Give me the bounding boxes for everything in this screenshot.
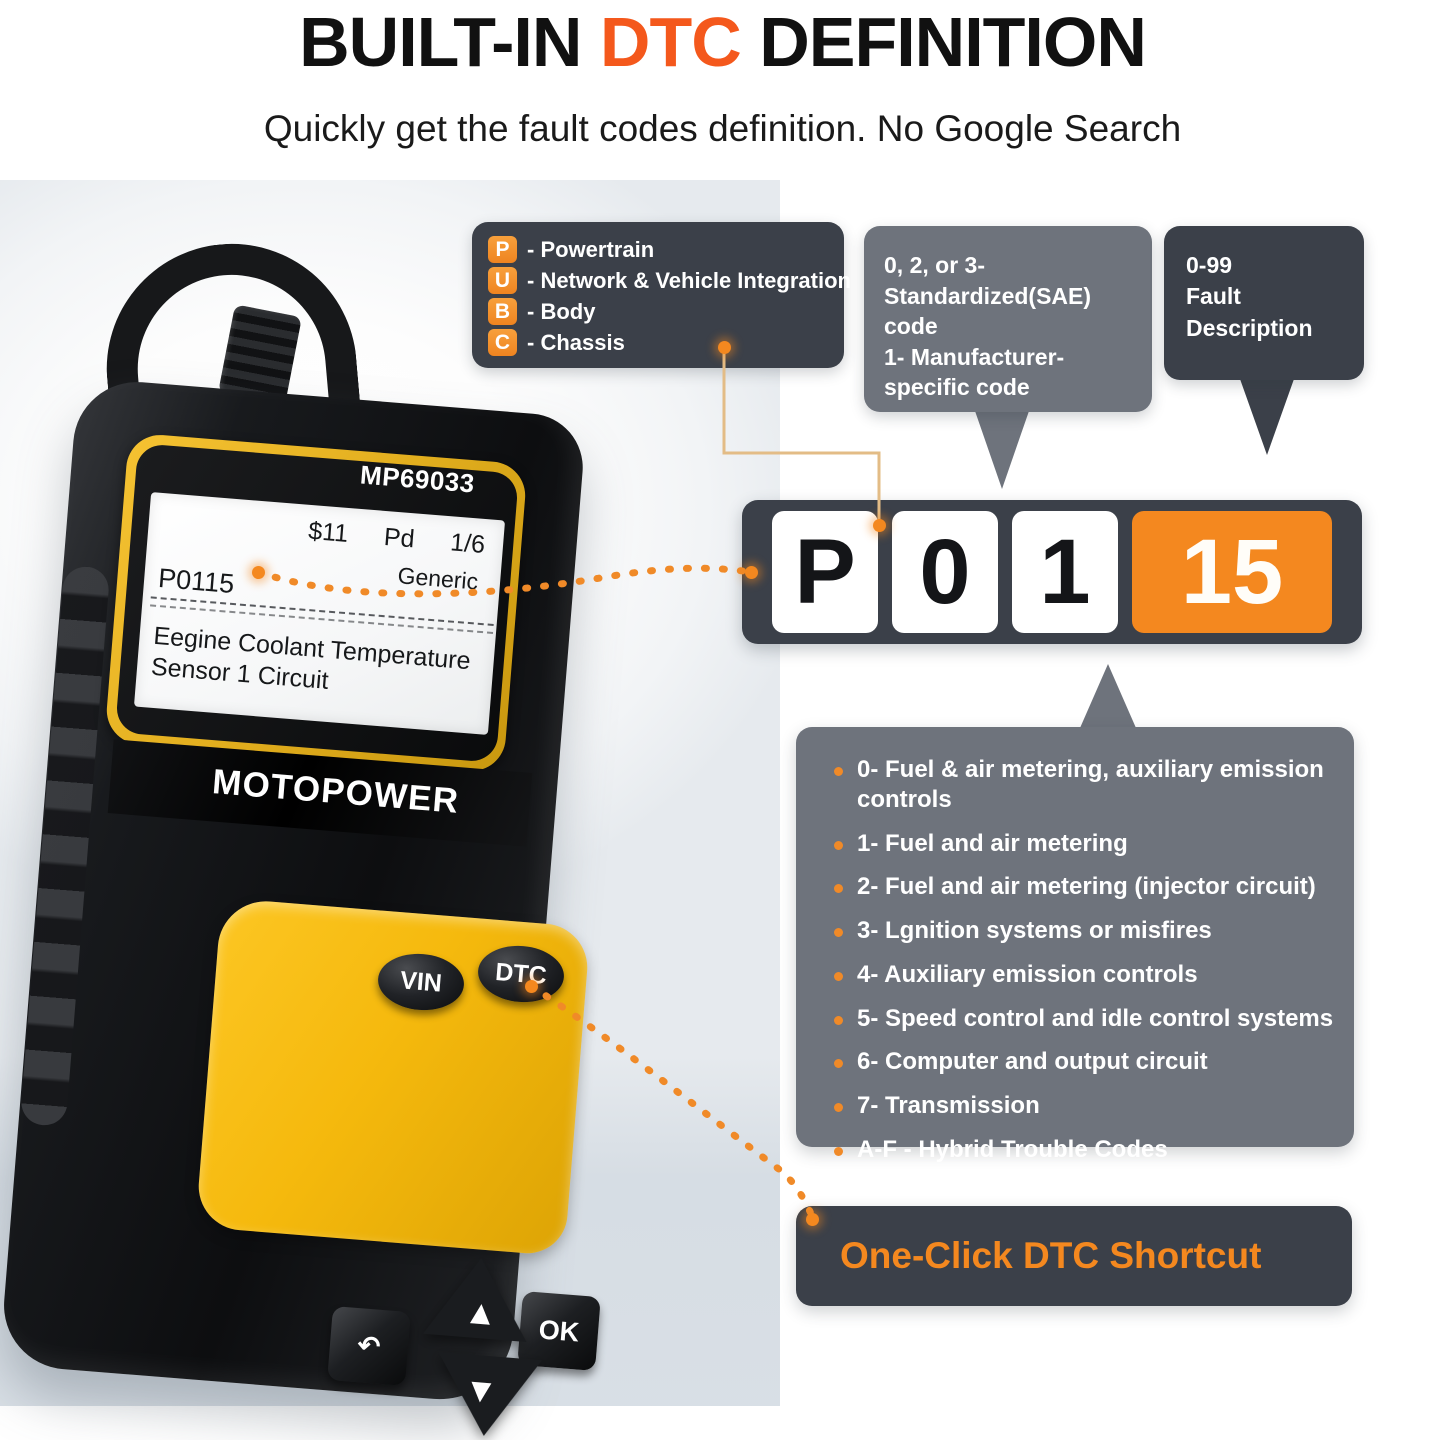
subsystem-label: 3- Lgnition systems or misfires bbox=[857, 916, 1212, 946]
subsystem-label: 7- Transmission bbox=[857, 1091, 1040, 1121]
sae-line: Standardized(SAE) code bbox=[884, 281, 1134, 342]
code-letter-legend-box: P - Powertrain U - Network & Vehicle Int… bbox=[472, 222, 844, 368]
list-item: 7- Transmission bbox=[834, 1091, 1338, 1121]
lcd-fault-code: P0115 bbox=[157, 563, 235, 600]
legend-badge-u: U bbox=[488, 267, 517, 294]
back-button[interactable]: ↶ bbox=[327, 1306, 411, 1386]
list-item: A-F - Hybrid Trouble Codes bbox=[834, 1135, 1338, 1165]
list-item: 1- Fuel and air metering bbox=[834, 829, 1338, 859]
subsystem-label: 2- Fuel and air metering (injector circu… bbox=[857, 872, 1316, 902]
header: BUILT-IN DTC DEFINITION Quickly get the … bbox=[0, 0, 1445, 180]
code-tile-3: 1 bbox=[1012, 511, 1118, 633]
obd2-scanner-device: MP69033 $11 Pd 1/6 Generic P0115 Eegine … bbox=[30, 236, 650, 1396]
legend-badge-c: C bbox=[488, 329, 517, 356]
bullet-dot-icon bbox=[834, 884, 843, 893]
subsystem-label: A-F - Hybrid Trouble Codes bbox=[857, 1135, 1168, 1165]
bullet-dot-icon bbox=[834, 1016, 843, 1025]
page-title-accent: DTC bbox=[600, 3, 741, 81]
up-arrow-icon: ▲ bbox=[463, 1295, 499, 1332]
bullet-dot-icon bbox=[834, 841, 843, 850]
lcd-code-type: Generic bbox=[397, 562, 479, 595]
lcd-pid: $11 bbox=[307, 517, 349, 549]
dtc-code-panel: P 0 1 15 bbox=[742, 500, 1362, 644]
bullet-dot-icon bbox=[834, 1103, 843, 1112]
bullet-dot-icon bbox=[834, 1147, 843, 1156]
legend-label-b: - Body bbox=[527, 299, 595, 325]
sae-line: specific code bbox=[884, 372, 1134, 403]
subsystem-label: 5- Speed control and idle control system… bbox=[857, 1004, 1333, 1034]
connector-dot-lcd bbox=[252, 566, 265, 579]
legend-row: B - Body bbox=[488, 298, 828, 325]
fault-line: Fault bbox=[1186, 281, 1346, 312]
connector-dot-pubc bbox=[718, 341, 731, 354]
subsystem-legend-box: 0- Fuel & air metering, auxiliary emissi… bbox=[796, 727, 1354, 1147]
legend-label-u: - Network & Vehicle Integration bbox=[527, 268, 851, 294]
fault-line: Description bbox=[1186, 313, 1346, 344]
list-item: 0- Fuel & air metering, auxiliary emissi… bbox=[834, 755, 1338, 815]
lcd-fault-description: Eegine Coolant Temperature Sensor 1 Circ… bbox=[150, 621, 484, 708]
subsystem-label: 0- Fuel & air metering, auxiliary emissi… bbox=[857, 755, 1338, 815]
bullet-dot-icon bbox=[834, 928, 843, 937]
bullet-dot-icon bbox=[834, 767, 843, 776]
subsystem-callout-pointer-icon bbox=[1080, 664, 1136, 728]
legend-row: C - Chassis bbox=[488, 329, 828, 356]
list-item: 6- Computer and output circuit bbox=[834, 1047, 1338, 1077]
list-item: 2- Fuel and air metering (injector circu… bbox=[834, 872, 1338, 902]
list-item: 3- Lgnition systems or misfires bbox=[834, 916, 1338, 946]
lcd-status: Pd bbox=[383, 523, 416, 554]
sae-code-callout-box: 0, 2, or 3- Standardized(SAE) code 1- Ma… bbox=[864, 226, 1152, 412]
code-tile-4-highlighted: 15 bbox=[1132, 511, 1332, 633]
page-title-post: DEFINITION bbox=[741, 3, 1146, 81]
connector-dot-panel-left bbox=[745, 566, 758, 579]
legend-badge-b: B bbox=[488, 298, 517, 325]
lcd-page: 1/6 bbox=[449, 528, 486, 560]
bullet-dot-icon bbox=[834, 972, 843, 981]
sae-line: 1- Manufacturer- bbox=[884, 342, 1134, 373]
lcd-divider bbox=[151, 596, 494, 626]
legend-row: P - Powertrain bbox=[488, 236, 828, 263]
subsystem-label: 4- Auxiliary emission controls bbox=[857, 960, 1198, 990]
page-title: BUILT-IN DTC DEFINITION bbox=[0, 2, 1445, 82]
down-arrow-icon: ▼ bbox=[463, 1373, 499, 1410]
legend-label-p: - Powertrain bbox=[527, 237, 654, 263]
shortcut-label: One-Click DTC Shortcut bbox=[840, 1235, 1261, 1277]
list-item: 5- Speed control and idle control system… bbox=[834, 1004, 1338, 1034]
connector-dot-dtc-button bbox=[525, 980, 538, 993]
one-click-shortcut-banner: One-Click DTC Shortcut bbox=[796, 1206, 1352, 1306]
bullet-dot-icon bbox=[834, 1059, 843, 1068]
connector-dot-code-p bbox=[873, 519, 886, 532]
fault-line: 0-99 bbox=[1186, 250, 1346, 281]
code-tile-1: P bbox=[772, 511, 878, 633]
subsystem-label: 6- Computer and output circuit bbox=[857, 1047, 1208, 1077]
connector-dot-shortcut bbox=[806, 1213, 819, 1226]
sae-callout-pointer-icon bbox=[975, 411, 1029, 489]
device-lcd-screen: $11 Pd 1/6 Generic P0115 Eegine Coolant … bbox=[134, 492, 505, 735]
list-item: 4- Auxiliary emission controls bbox=[834, 960, 1338, 990]
page-subtitle: Quickly get the fault codes definition. … bbox=[0, 108, 1445, 150]
code-tile-2: 0 bbox=[892, 511, 998, 633]
legend-label-c: - Chassis bbox=[527, 330, 625, 356]
fault-callout-pointer-icon bbox=[1240, 379, 1294, 455]
subsystem-label: 1- Fuel and air metering bbox=[857, 829, 1128, 859]
legend-badge-p: P bbox=[488, 236, 517, 263]
fault-description-callout-box: 0-99 Fault Description bbox=[1164, 226, 1364, 380]
page-title-pre: BUILT-IN bbox=[299, 3, 600, 81]
legend-row: U - Network & Vehicle Integration bbox=[488, 267, 828, 294]
sae-line: 0, 2, or 3- bbox=[884, 250, 1134, 281]
